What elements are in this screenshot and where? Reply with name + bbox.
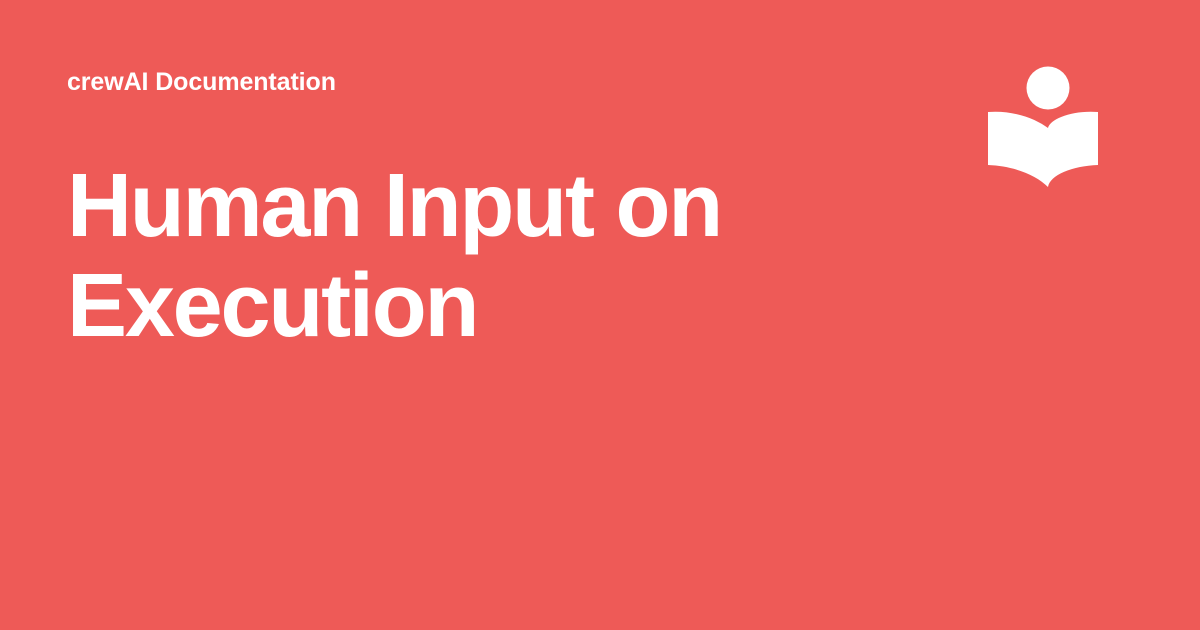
open-book-reader-icon bbox=[988, 63, 1100, 189]
card-content: crewAI Documentation Human Input on Exec… bbox=[67, 66, 827, 356]
open-book-left-page bbox=[988, 112, 1048, 187]
open-book-right-page bbox=[1048, 112, 1098, 187]
social-card: crewAI Documentation Human Input on Exec… bbox=[0, 0, 1200, 630]
brand-mark bbox=[988, 63, 1100, 189]
card-eyebrow: crewAI Documentation bbox=[67, 66, 827, 98]
reader-head-circle bbox=[1027, 67, 1070, 110]
page-title: Human Input on Execution bbox=[67, 156, 767, 356]
